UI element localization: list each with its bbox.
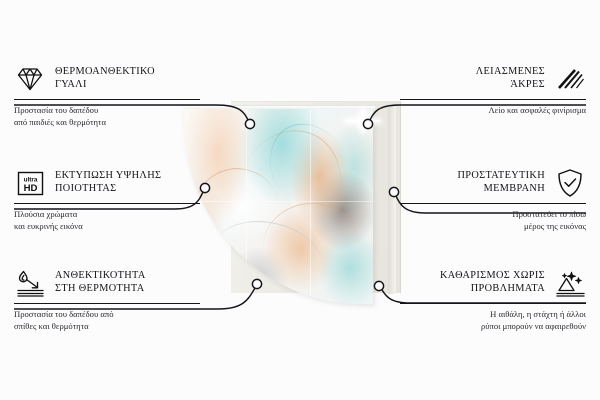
feature-print-quality: ultra HD ΕΚΤΥΠΩΣΗ ΥΨΗΛΗΣ ΠΟΙΟΤΗΤΑΣ Πλούσ… (14, 166, 200, 232)
feature-description: Προστασία του δαπέδου από σπίθες και θερ… (14, 309, 200, 332)
feature-heat-glass: ΘΕΡΜΟΑΝΘΕΚΤΙΚΟ ΓΥΑΛΙ Προστασία του δαπέδ… (14, 62, 200, 128)
svg-text:HD: HD (23, 183, 37, 194)
feature-title: ΕΚΤΥΠΩΣΗ ΥΨΗΛΗΣ ΠΟΙΟΤΗΤΑΣ (55, 170, 161, 195)
infographic-canvas: ΘΕΡΜΟΑΝΘΕΚΤΙΚΟ ΓΥΑΛΙ Προστασία του δαπέδ… (0, 0, 600, 400)
feature-protective-membrane: ΠΡΟΣΤΑΤΕΥΤΙΚΗ ΜΕΜΒΡΑΝΗ Προστατεύει το πί… (400, 166, 586, 232)
feature-heat-resistance: ΑΝΘΕΚΤΙΚΟΤΗΤΑ ΣΤΗ ΘΕΡΜΟΤΗΤΑ Προστασία το… (14, 266, 200, 332)
feature-divider (400, 99, 586, 100)
feature-divider (14, 99, 200, 100)
feature-description: Η αιθάλη, η στάχτη ή άλλοι ρύποι μπορούν… (400, 309, 586, 332)
shield-check-icon (554, 167, 586, 199)
feature-title: ΠΡΟΣΤΑΤΕΥΤΙΚΗ ΜΕΜΒΡΑΝΗ (457, 170, 545, 195)
flame-deflect-icon (14, 267, 46, 299)
feature-divider (400, 203, 586, 204)
feature-title: ΘΕΡΜΟΑΝΘΕΚΤΙΚΟ ΓΥΑΛΙ (55, 66, 155, 91)
feature-divider (14, 203, 200, 204)
feature-title: ΛΕΙΑΣΜΕΝΕΣ ΆΚΡΕΣ (476, 66, 545, 91)
polished-edge-icon (554, 63, 586, 95)
diamond-icon (14, 63, 46, 95)
feature-description: Προστατεύει το πίσω μέρος της εικόνας (400, 209, 586, 232)
feature-title: ΚΑΘΑΡΙΣΜΟΣ ΧΩΡΙΣ ΠΡΟΒΛΗΜΑΤΑ (440, 270, 545, 295)
panel-seam (183, 201, 373, 202)
product-panel-edge (388, 104, 396, 294)
feature-easy-cleaning: ΚΑΘΑΡΙΣΜΟΣ ΧΩΡΙΣ ΠΡΟΒΛΗΜΑΤΑ Η αιθάλη, η … (400, 266, 586, 332)
feature-divider (14, 303, 200, 304)
product-image (183, 101, 408, 311)
feature-description: Λείο και ασφαλές φινίρισμα (400, 105, 586, 116)
feature-title: ΑΝΘΕΚΤΙΚΟΤΗΤΑ ΣΤΗ ΘΕΡΜΟΤΗΤΑ (55, 270, 146, 295)
ultra-hd-icon: ultra HD (14, 167, 46, 199)
sparkle-wipe-icon (554, 267, 586, 299)
feature-description: Πλούσια χρώματα και ευκρινής εικόνα (14, 209, 200, 232)
glass-pattern-surface (183, 109, 373, 304)
feature-smooth-edges: ΛΕΙΑΣΜΕΝΕΣ ΆΚΡΕΣ Λείο και ασφαλές φινίρι… (400, 62, 586, 117)
marble-pattern (183, 109, 373, 304)
panel-seam (310, 109, 311, 304)
feature-divider (400, 303, 586, 304)
panel-seam (246, 109, 247, 304)
feature-description: Προστασία του δαπέδου από παιδιές και θε… (14, 105, 200, 128)
